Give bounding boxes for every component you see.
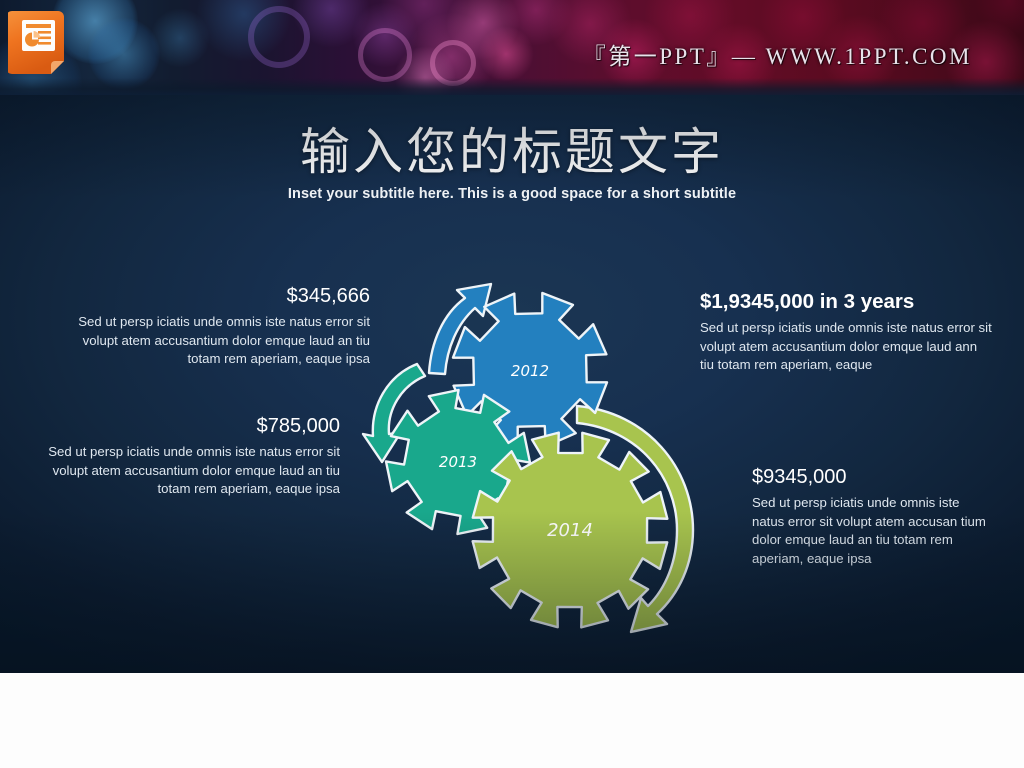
header-bokeh-banner: 『第一PPT』— WWW.1PPT.COM: [0, 0, 1024, 95]
gear-process-diagram: 201220132014: [355, 280, 715, 650]
footer-bar: 第一PPT HTTP://WWW.1PPT.COM: [0, 673, 1024, 768]
info-block-2: $785,000 Sed ut persp iciatis unde omnis…: [48, 415, 340, 499]
info-block-3-amount: $1,9345,000 in 3 years: [700, 290, 992, 314]
info-block-3-body: Sed ut persp iciatis unde omnis iste nat…: [700, 319, 992, 375]
info-block-1: $345,666 Sed ut persp iciatis unde omnis…: [52, 285, 370, 369]
info-block-4-body: Sed ut persp iciatis unde omnis iste nat…: [752, 494, 992, 569]
info-block-1-body: Sed ut persp iciatis unde omnis iste nat…: [52, 313, 370, 369]
slide-content-area: 输入您的标题文字 Inset your subtitle here. This …: [0, 95, 1024, 673]
info-block-4-amount: $9345,000: [752, 466, 992, 489]
slide-screenshot: 『第一PPT』— WWW.1PPT.COM 输入您的标题文字 In: [0, 0, 1024, 768]
bokeh-ring: [248, 6, 310, 68]
page-subtitle: Inset your subtitle here. This is a good…: [0, 186, 1024, 202]
info-block-4: $9345,000 Sed ut persp iciatis unde omni…: [752, 466, 992, 569]
header-brand-text: 『第一PPT』— WWW.1PPT.COM: [583, 37, 972, 71]
info-block-2-amount: $785,000: [48, 415, 340, 438]
gear-label-2012: 2012: [511, 362, 549, 380]
gear-2014[interactable]: 2014: [473, 433, 668, 628]
bokeh-ring: [358, 28, 412, 82]
info-block-3: $1,9345,000 in 3 years Sed ut persp icia…: [700, 290, 992, 375]
info-block-2-body: Sed ut persp iciatis unde omnis iste nat…: [48, 443, 340, 499]
header-bottom-fade: [0, 78, 1024, 95]
page-title: 输入您的标题文字: [0, 112, 1024, 184]
gear-label-2014: 2014: [547, 520, 593, 541]
powerpoint-file-icon[interactable]: [8, 6, 70, 78]
gear-label-2013: 2013: [439, 453, 477, 471]
info-block-1-amount: $345,666: [52, 285, 370, 308]
